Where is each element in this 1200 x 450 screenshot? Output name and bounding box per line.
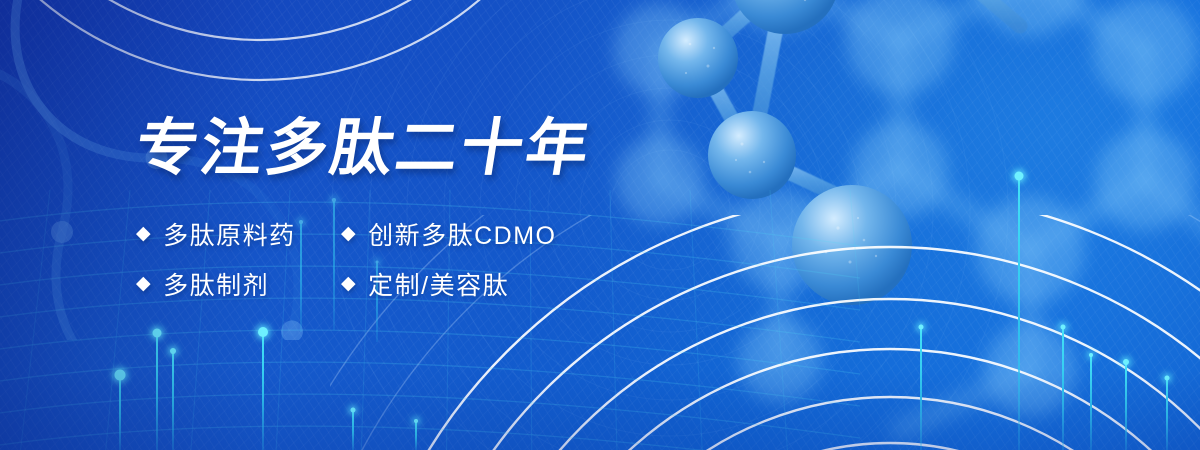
feature-item-custom-cosmetic: ◆ 定制/美容肽 [341,266,509,302]
feature-label: 多肽制剂 [163,266,269,302]
feature-label: 创新多肽CDMO [368,216,556,252]
feature-item-cdmo: ◆ 创新多肽CDMO [341,216,557,252]
feature-row: ◆ 多肽原料药 ◆ 创新多肽CDMO [136,216,606,252]
banner-headline: 专注多肽二十年 [131,118,596,180]
diamond-bullet-icon: ◆ [341,224,357,243]
hero-banner: 专注多肽二十年 ◆ 多肽原料药 ◆ 创新多肽CDMO ◆ 多肽制剂 ◆ [0,0,1200,450]
feature-label: 多肽原料药 [163,216,296,252]
feature-list: ◆ 多肽原料药 ◆ 创新多肽CDMO ◆ 多肽制剂 ◆ 定制/美容肽 [136,216,606,316]
feature-label: 定制/美容肽 [368,266,509,302]
diamond-bullet-icon: ◆ [341,274,357,293]
feature-item-formulation: ◆ 多肽制剂 [136,266,341,302]
banner-content: 专注多肽二十年 ◆ 多肽原料药 ◆ 创新多肽CDMO ◆ 多肽制剂 ◆ [0,0,1200,450]
feature-row: ◆ 多肽制剂 ◆ 定制/美容肽 [136,266,606,302]
diamond-bullet-icon: ◆ [136,274,152,293]
diamond-bullet-icon: ◆ [136,224,152,243]
feature-item-raw-material: ◆ 多肽原料药 [136,216,341,252]
